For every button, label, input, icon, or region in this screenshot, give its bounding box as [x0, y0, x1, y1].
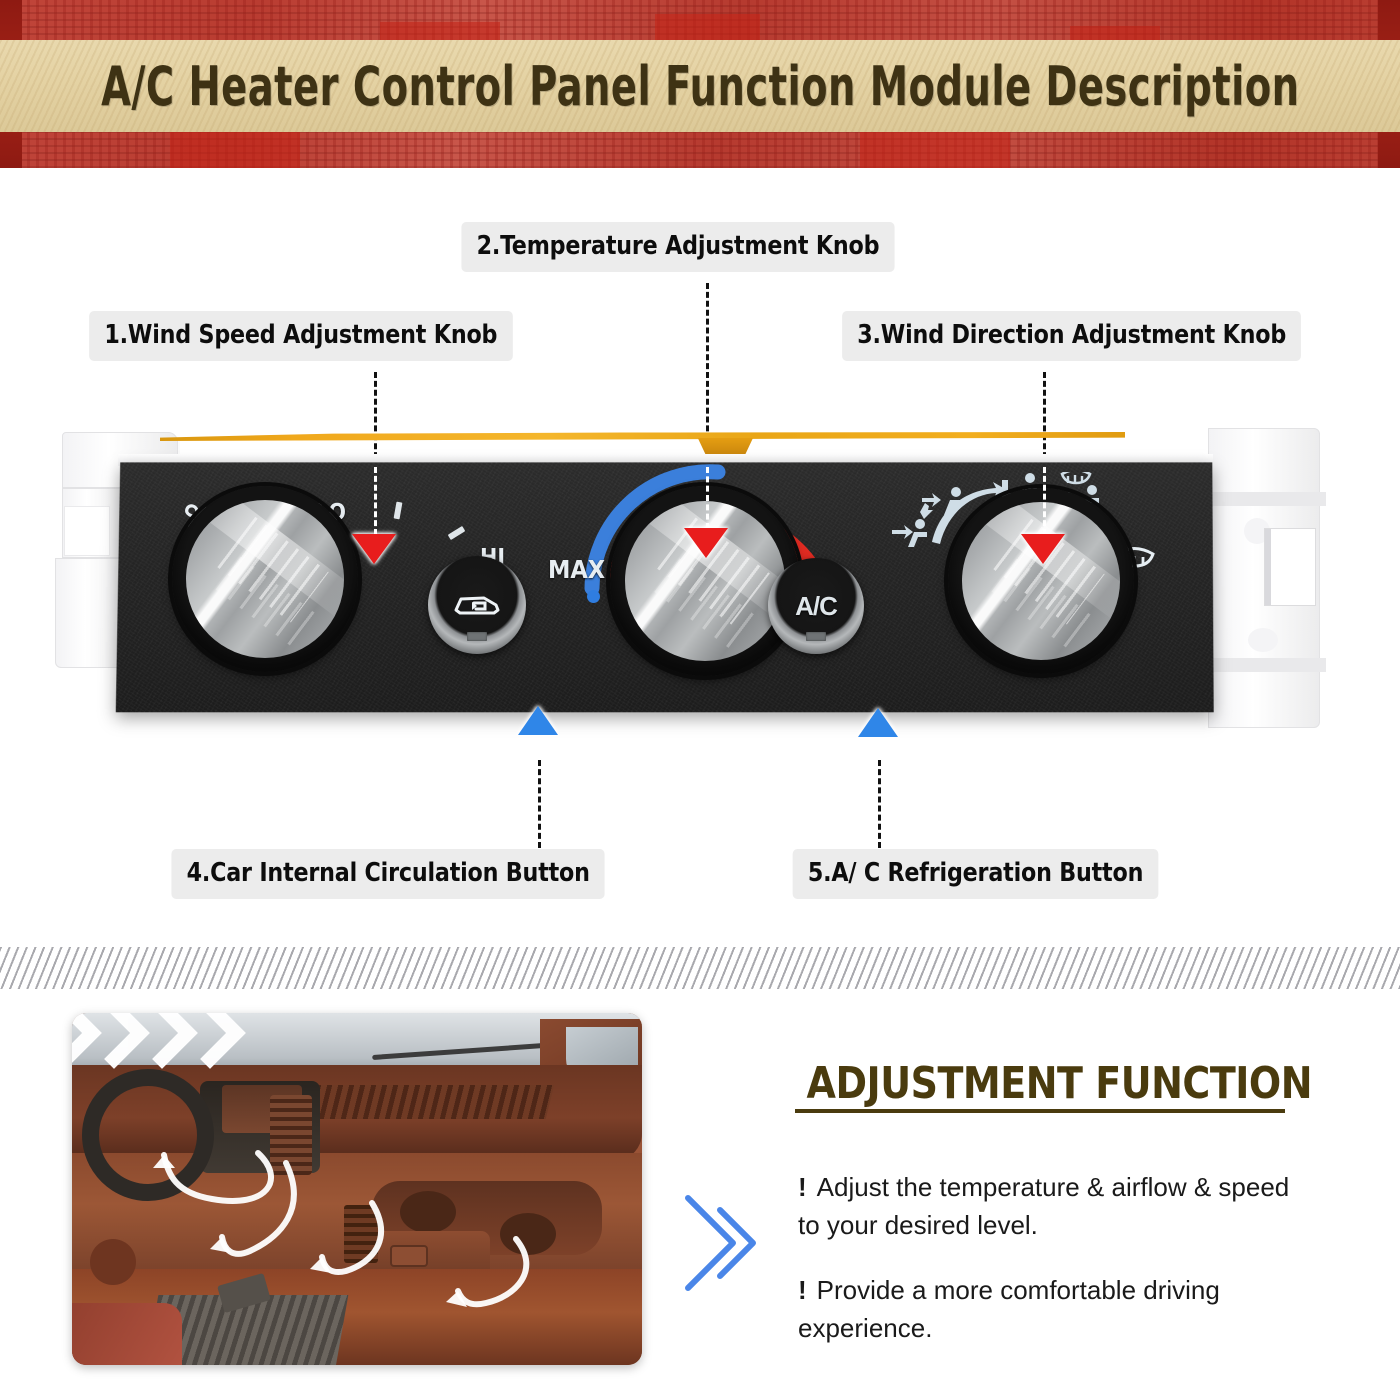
bracket-slot-right	[1264, 528, 1316, 606]
bullet-marker: !	[798, 1172, 807, 1202]
bullet-item: !Provide a more comfortable driving expe…	[798, 1271, 1298, 1348]
bullet-item: !Adjust the temperature & airflow & spee…	[798, 1168, 1298, 1245]
bracket-rail-bottom	[1208, 658, 1326, 672]
temperature-knob[interactable]	[625, 501, 785, 661]
ac-led-indicator	[806, 632, 826, 641]
page-title: A/C Heater Control Panel Function Module…	[101, 54, 1299, 118]
amber-trim-strip	[160, 432, 1125, 441]
ac-button-label: A/C	[795, 591, 837, 622]
pointer-marker-ac-button	[858, 708, 898, 737]
page-header: A/C Heater Control Panel Function Module…	[0, 0, 1400, 168]
wind-direction-knob[interactable]	[962, 502, 1120, 660]
pointer-marker-direction-knob	[1021, 534, 1065, 564]
vent-face-icon	[892, 519, 927, 547]
header-banner: A/C Heater Control Panel Function Module…	[0, 40, 1400, 132]
leader-line-3-over-panel	[1043, 467, 1046, 535]
callout-label-1: 1.Wind Speed Adjustment Knob	[89, 311, 512, 361]
airflow-arrows-overlay	[72, 1013, 642, 1365]
leader-line-2-over-panel	[706, 467, 709, 529]
bullet-text: Adjust the temperature & airflow & speed…	[798, 1172, 1289, 1240]
chevron-right-icon	[678, 1188, 768, 1298]
callout-label-4: 4.Car Internal Circulation Button	[171, 849, 605, 899]
heading-underline	[795, 1109, 1285, 1113]
bullet-marker: !	[798, 1275, 807, 1305]
product-photo-area: OFF LO HI MAX A/C	[0, 400, 1400, 780]
callout-label-3: 3.Wind Direction Adjustment Knob	[842, 311, 1301, 361]
pointer-marker-temperature-knob	[684, 528, 728, 558]
bullet-text: Provide a more comfortable driving exper…	[798, 1275, 1220, 1343]
recirculation-led-indicator	[467, 632, 487, 641]
pointer-marker-recirculation-button	[518, 706, 558, 735]
vehicle-interior-photo	[72, 1013, 642, 1365]
recirculation-button[interactable]	[428, 556, 526, 654]
fan-speed-knob[interactable]	[186, 500, 344, 658]
leader-line-1-over-panel	[374, 467, 377, 535]
temperature-max-label: MAX	[548, 555, 605, 584]
car-recirculation-icon	[450, 588, 504, 622]
bracket-slot-left	[64, 506, 110, 556]
max-indicator-dot	[587, 590, 600, 603]
bracket-dimple-icon	[1248, 628, 1278, 652]
callout-label-2: 2.Temperature Adjustment Knob	[461, 222, 894, 272]
pointer-marker-fan-knob	[352, 534, 396, 564]
adjustment-function-heading: ADJUSTMENT FUNCTION	[807, 1058, 1313, 1109]
callout-label-5: 5.A/ C Refrigeration Button	[793, 849, 1159, 899]
ac-button[interactable]: A/C	[768, 558, 864, 654]
adjustment-function-bullets: !Adjust the temperature & airflow & spee…	[798, 1168, 1298, 1374]
bracket-rail-top	[1208, 492, 1326, 506]
section-divider	[0, 947, 1400, 989]
